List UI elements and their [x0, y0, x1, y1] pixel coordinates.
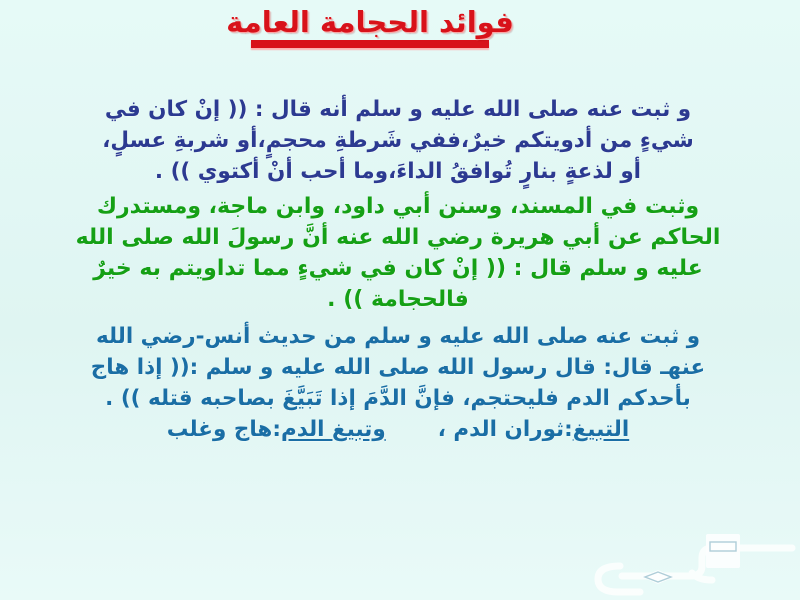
paragraph-hadith-2: وثبت في المسند، وسنن أبي داود، وابن ماجة… — [48, 191, 748, 315]
vertical-letter: ح — [754, 152, 790, 226]
vertical-letter: ة — [759, 432, 785, 490]
vertical-letter: ج — [754, 226, 790, 300]
paragraph-line: أو لذعةٍ بنارٍ تُوافقُ الداءَ،وما أحب أن… — [48, 156, 748, 187]
definition-term-1: التبيغ — [573, 417, 629, 442]
definition-separator-1: : — [564, 417, 573, 442]
paragraph-line: الحاكم عن أبي هريرة رضي الله عنه أنَّ رس… — [48, 222, 748, 253]
paragraph-line: وثبت في المسند، وسنن أبي داود، وابن ماجة… — [48, 191, 748, 222]
paragraph-line: شيءٍ من أدويتكم خيرٌ،ففي شَرطةِ محجمٍ،أو… — [48, 125, 748, 156]
slide-canvas: فوائد الحجامة العامة و ثبت عنه صلى الله … — [0, 0, 800, 600]
paragraph-line: بأحدكم الدم فليحتجم، فإنَّ الدَّمَ إذا ت… — [48, 383, 748, 414]
vertical-letter: م — [756, 374, 788, 432]
page-title: فوائد الحجامة العامة — [0, 6, 740, 48]
vertical-letter: ا — [763, 4, 780, 78]
paragraph-hadith-3: و ثبت عنه صلى الله عليه و سلم من حديث أن… — [48, 321, 748, 445]
paragraph-line: فالحجامة )) . — [48, 284, 748, 315]
definition-separator-2: : — [272, 417, 281, 442]
paragraph-hadith-1: و ثبت عنه صلى الله عليه و سلم أنه قال : … — [48, 94, 748, 187]
vertical-letter: ل — [750, 78, 793, 152]
definition-meaning-2: هاج وغلب — [167, 417, 273, 442]
vertical-letter: ا — [763, 300, 780, 374]
definition-term-2: وتبيغ الدم — [281, 417, 386, 442]
vertical-word-alhijamah: ا ل ح ج ا م ة — [748, 4, 796, 596]
paragraph-line: عليه و سلم قال : (( إنْ كان في شيءٍ مما … — [48, 253, 748, 284]
definition-line: التبيغ:ثوران الدم ،وتبيغ الدم:هاج وغلب — [48, 414, 748, 445]
title-underline-rule — [251, 40, 489, 48]
page-title-text: فوائد الحجامة العامة — [220, 6, 520, 39]
paragraph-line: عنهـ قال: قال رسول الله صلى الله عليه و … — [48, 352, 748, 383]
definition-meaning-1: ثوران الدم ، — [438, 417, 564, 442]
paragraph-line: و ثبت عنه صلى الله عليه و سلم أنه قال : … — [48, 94, 748, 125]
paragraph-line: و ثبت عنه صلى الله عليه و سلم من حديث أن… — [48, 321, 748, 352]
body-text-column: و ثبت عنه صلى الله عليه و سلم أنه قال : … — [48, 94, 748, 445]
